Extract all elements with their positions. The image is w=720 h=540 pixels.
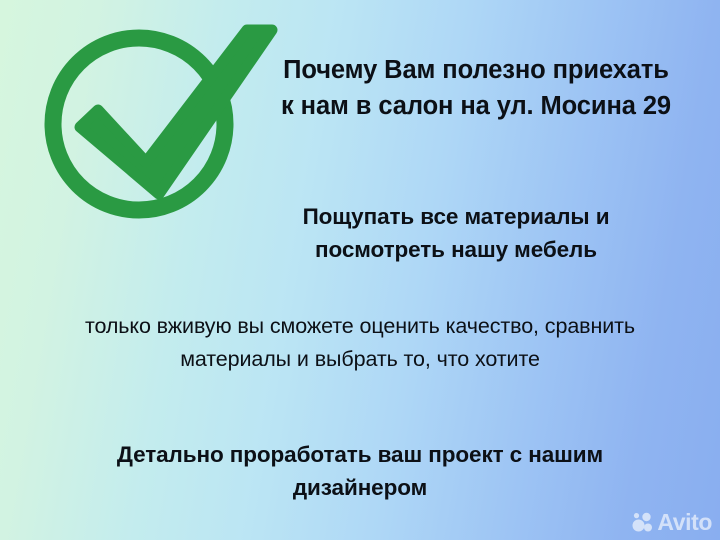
poster-image: Почему Вам полезно приехать к нам в сало…	[0, 0, 720, 540]
avito-watermark: Avito	[632, 511, 712, 534]
closing-statement-text: Детально проработать ваш проект с нашим …	[60, 438, 660, 504]
headline-text: Почему Вам полезно приехать к нам в сало…	[276, 52, 676, 124]
avito-dots-logo-icon	[632, 512, 654, 534]
subheading-text: Пощупать все материалы и посмотреть нашу…	[256, 200, 656, 266]
avito-watermark-label: Avito	[657, 511, 712, 534]
green-check-circle-icon	[36, 14, 286, 226]
body-paragraph-text: только вживую вы сможете оценить качеств…	[60, 310, 660, 376]
